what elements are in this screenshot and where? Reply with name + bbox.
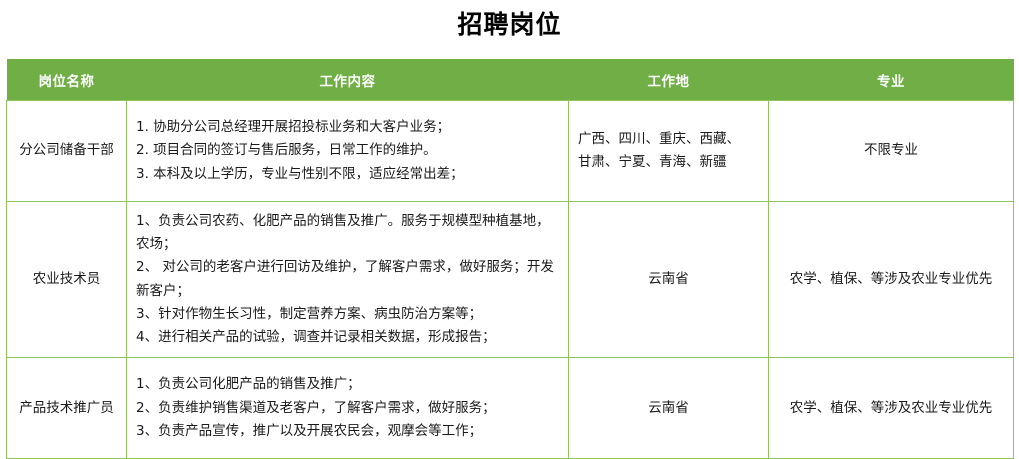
table-body: 分公司储备干部 1. 协助分公司总经理开展招投标业务和大客户业务； 2. 项目合… [7, 101, 1014, 459]
job-location-cell: 云南省 [569, 358, 769, 459]
location-line: 甘肃、宁夏、青海、新疆 [578, 151, 759, 174]
column-header-location: 工作地 [569, 59, 769, 101]
column-header-name: 岗位名称 [7, 59, 127, 101]
duty-line: 3. 本科及以上学历，专业与性别不限，适应经常出差； [136, 163, 559, 186]
table-header-row: 岗位名称 工作内容 工作地 专业 [7, 59, 1014, 101]
page-title: 招聘岗位 [0, 0, 1019, 42]
job-name-cell: 产品技术推广员 [7, 358, 127, 459]
duty-line: 3、针对作物生长习性，制定营养方案、病虫防治方案等； [136, 303, 559, 326]
duty-line: 2、 对公司的老客户进行回访及维护，了解客户需求，做好服务；开发新客户； [136, 256, 559, 302]
job-major-cell: 农学、植保、等涉及农业专业优先 [769, 358, 1014, 459]
job-name-cell: 农业技术员 [7, 202, 127, 358]
table-row: 分公司储备干部 1. 协助分公司总经理开展招投标业务和大客户业务； 2. 项目合… [7, 101, 1014, 202]
job-duty-cell: 1、负责公司化肥产品的销售及推广； 2、负责维护销售渠道及老客户，了解客户需求，… [127, 358, 569, 459]
jobs-table-container: 岗位名称 工作内容 工作地 专业 分公司储备干部 1. 协助分公司总经理开展招投… [6, 59, 1013, 459]
job-major-cell: 不限专业 [769, 101, 1014, 202]
page-root: 招聘岗位 岗位名称 工作内容 工作地 专业 分公司储备干部 [0, 0, 1019, 436]
table-row: 产品技术推广员 1、负责公司化肥产品的销售及推广； 2、负责维护销售渠道及老客户… [7, 358, 1014, 459]
job-name-cell: 分公司储备干部 [7, 101, 127, 202]
table-header: 岗位名称 工作内容 工作地 专业 [7, 59, 1014, 101]
duty-line: 1、负责公司农药、化肥产品的销售及推广。服务于规模型种植基地，农场； [136, 210, 559, 256]
column-header-major: 专业 [769, 59, 1014, 101]
job-duty-cell: 1. 协助分公司总经理开展招投标业务和大客户业务； 2. 项目合同的签订与售后服… [127, 101, 569, 202]
duty-line: 2. 项目合同的签订与售后服务，日常工作的维护。 [136, 139, 559, 162]
duty-line: 3、负责产品宣传，推广以及开展农民会，观摩会等工作； [136, 420, 559, 443]
duty-line: 4、进行相关产品的试验，调查并记录相关数据，形成报告； [136, 326, 559, 349]
duty-line: 2、负责维护销售渠道及老客户，了解客户需求，做好服务； [136, 397, 559, 420]
jobs-table: 岗位名称 工作内容 工作地 专业 分公司储备干部 1. 协助分公司总经理开展招投… [6, 59, 1014, 459]
job-location-cell: 云南省 [569, 202, 769, 358]
duty-line: 1、负责公司化肥产品的销售及推广； [136, 373, 559, 396]
column-header-duty: 工作内容 [127, 59, 569, 101]
location-line: 广西、四川、重庆、西藏、 [578, 128, 759, 151]
job-location-cell: 广西、四川、重庆、西藏、 甘肃、宁夏、青海、新疆 [569, 101, 769, 202]
duty-line: 1. 协助分公司总经理开展招投标业务和大客户业务； [136, 116, 559, 139]
job-major-cell: 农学、植保、等涉及农业专业优先 [769, 202, 1014, 358]
table-row: 农业技术员 1、负责公司农药、化肥产品的销售及推广。服务于规模型种植基地，农场；… [7, 202, 1014, 358]
job-duty-cell: 1、负责公司农药、化肥产品的销售及推广。服务于规模型种植基地，农场； 2、 对公… [127, 202, 569, 358]
